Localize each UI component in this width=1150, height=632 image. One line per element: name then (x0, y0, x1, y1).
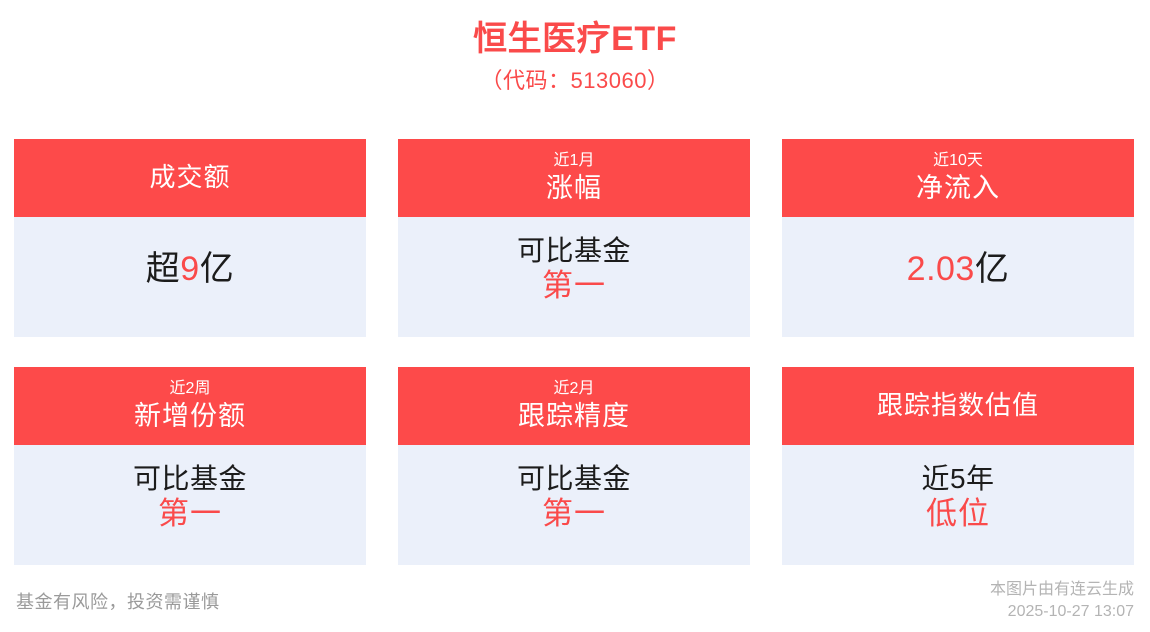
metric-card-value-primary: 可比基金 (133, 462, 247, 496)
metric-card-value: 2.03亿 (907, 249, 1010, 290)
metric-card-value-highlight: 第一 (542, 268, 606, 305)
page-title: 恒生医疗ETF (0, 18, 1150, 61)
metric-card-grid: 成交额 超9亿 近1月 涨幅 可比基金 第一 近10天 净流入 2.03亿 (14, 139, 1136, 565)
metric-card[interactable]: 近1月 涨幅 可比基金 第一 (398, 139, 750, 337)
metric-card-title: 涨幅 (546, 172, 602, 204)
metric-card-body: 可比基金 第一 (398, 445, 750, 565)
metric-card-value: 超9亿 (146, 249, 234, 290)
metric-card-period-label: 近2月 (554, 380, 595, 398)
metric-card-body: 可比基金 第一 (14, 445, 366, 565)
metric-card[interactable]: 近2月 跟踪精度 可比基金 第一 (398, 367, 750, 565)
metric-card[interactable]: 近2周 新增份额 可比基金 第一 (14, 367, 366, 565)
metric-value-suffix: 亿 (975, 250, 1010, 288)
metric-card-header: 近2周 新增份额 (14, 367, 366, 445)
metric-card-header: 成交额 (14, 139, 366, 217)
page-header: 恒生医疗ETF （代码：513060） (0, 0, 1150, 95)
metric-card-value-primary: 可比基金 (517, 234, 631, 268)
metric-card-body: 超9亿 (14, 217, 366, 337)
metric-value-suffix: 亿 (200, 250, 235, 288)
generated-timestamp: 2025-10-27 13:07 (990, 601, 1134, 623)
footer-attribution-block: 本图片由有连云生成 2025-10-27 13:07 (990, 579, 1134, 622)
metric-card-title: 净流入 (916, 172, 1000, 204)
metric-card-header: 近2月 跟踪精度 (398, 367, 750, 445)
metric-card[interactable]: 成交额 超9亿 (14, 139, 366, 337)
metric-card-value-highlight: 低位 (926, 496, 990, 533)
metric-card-period-label: 近2周 (170, 380, 211, 398)
metric-card-period-label: 近1月 (554, 152, 595, 170)
metric-card-title: 新增份额 (134, 400, 246, 432)
metric-card-title: 成交额 (149, 162, 230, 193)
risk-disclaimer: 基金有风险，投资需谨慎 (16, 588, 220, 614)
metric-card-period-label: 近10天 (933, 152, 983, 170)
metric-card-header: 近1月 涨幅 (398, 139, 750, 217)
metric-card-body: 可比基金 第一 (398, 217, 750, 337)
metric-card-body: 2.03亿 (782, 217, 1134, 337)
metric-card-header: 近10天 净流入 (782, 139, 1134, 217)
metric-card[interactable]: 跟踪指数估值 近5年 低位 (782, 367, 1134, 565)
metric-card-value-highlight: 第一 (542, 496, 606, 533)
generator-attribution: 本图片由有连云生成 (990, 579, 1134, 601)
metric-card-title: 跟踪精度 (518, 400, 630, 432)
metric-card-value-highlight: 第一 (158, 496, 222, 533)
metric-card-value-primary: 可比基金 (517, 462, 631, 496)
metric-value-accent: 2.03 (907, 250, 975, 288)
metric-card-header: 跟踪指数估值 (782, 367, 1134, 445)
metric-value-prefix: 超 (146, 250, 181, 288)
metric-card-title: 跟踪指数估值 (877, 390, 1039, 421)
page-subtitle-code: （代码：513060） (0, 67, 1150, 96)
metric-card-value-primary: 近5年 (921, 462, 994, 496)
metric-card[interactable]: 近10天 净流入 2.03亿 (782, 139, 1134, 337)
footer: 基金有风险，投资需谨慎 本图片由有连云生成 2025-10-27 13:07 (0, 570, 1150, 632)
metric-card-body: 近5年 低位 (782, 445, 1134, 565)
metric-value-accent: 9 (180, 250, 199, 288)
